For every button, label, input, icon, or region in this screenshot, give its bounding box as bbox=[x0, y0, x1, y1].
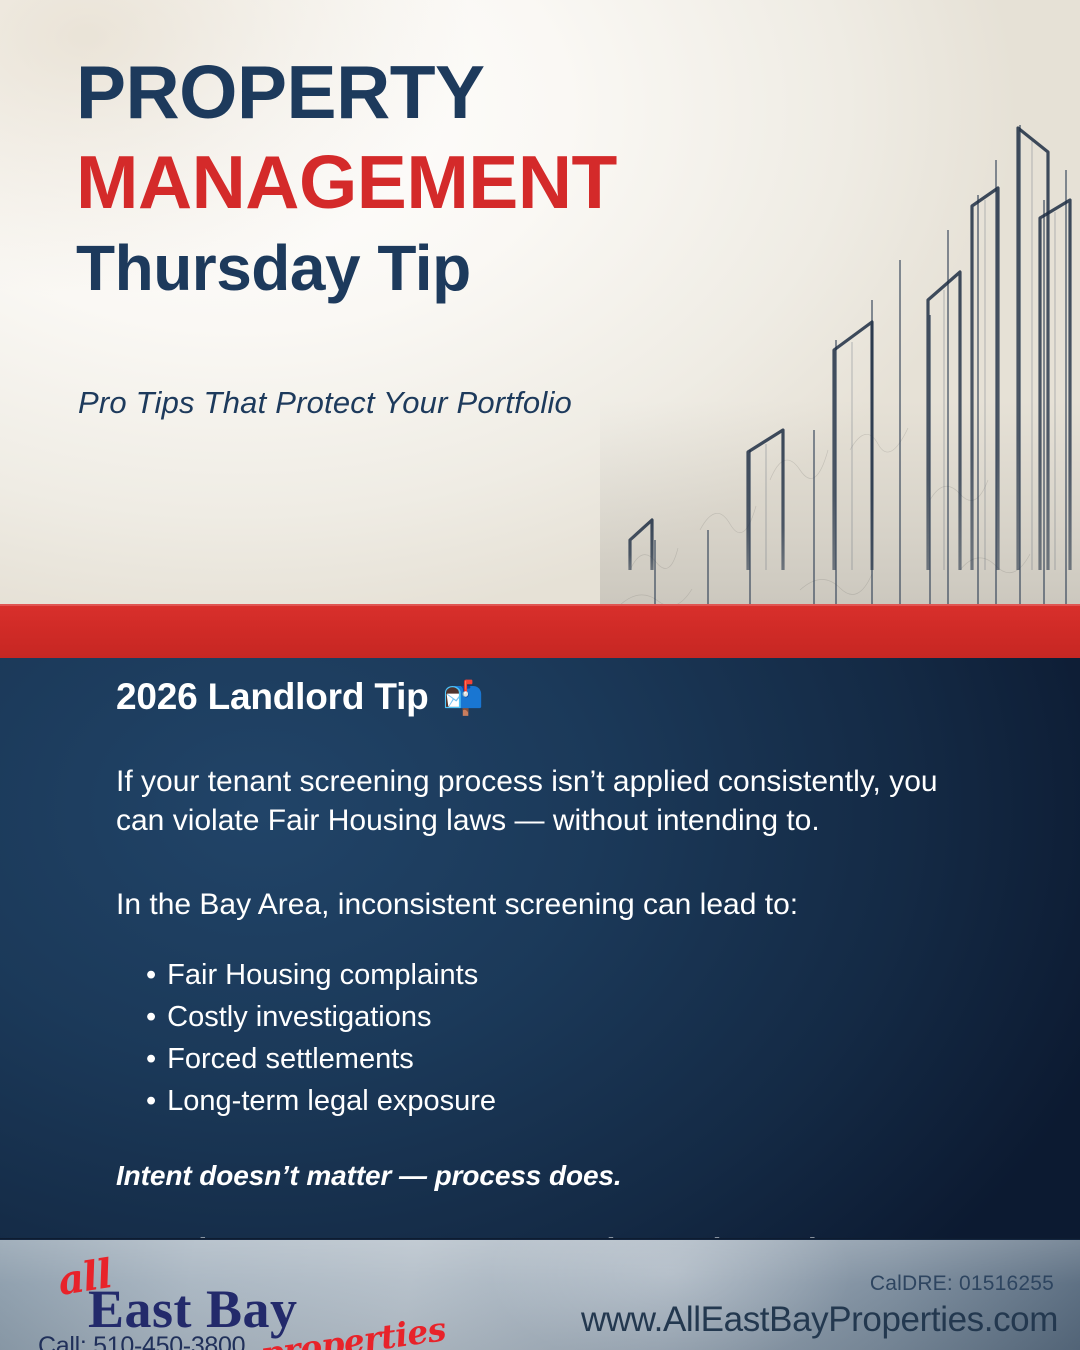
list-item: Forced settlements bbox=[146, 1042, 976, 1078]
title-line-thursday-tip: Thursday Tip bbox=[76, 237, 696, 300]
title-line-property: PROPERTY bbox=[76, 56, 696, 130]
red-divider-band bbox=[0, 604, 1080, 658]
phone-number[interactable]: Call: 510-450-3800 bbox=[38, 1332, 245, 1350]
list-item: Costly investigations bbox=[146, 1000, 976, 1036]
tip-content: 2026 Landlord Tip 📬 If your tenant scree… bbox=[116, 676, 976, 1269]
closing-line-1: Intent doesn’t matter — process does. bbox=[116, 1160, 976, 1192]
tip-heading: 2026 Landlord Tip 📬 bbox=[116, 676, 976, 718]
poster-subtitle: Pro Tips That Protect Your Portfolio bbox=[78, 385, 572, 421]
list-item: Long-term legal exposure bbox=[146, 1084, 976, 1120]
poster-canvas: PROPERTY MANAGEMENT Thursday Tip Pro Tip… bbox=[0, 0, 1080, 1350]
website-url[interactable]: www.AllEastBayProperties.com bbox=[581, 1300, 1058, 1340]
poster-title-block: PROPERTY MANAGEMENT Thursday Tip bbox=[76, 56, 696, 300]
tip-paragraph-1: If your tenant screening process isn’t a… bbox=[116, 762, 976, 841]
mailbox-icon: 📬 bbox=[443, 681, 484, 714]
company-logo[interactable]: all East Bay properties Call: 510-450-38… bbox=[30, 1250, 430, 1350]
list-item: Fair Housing complaints bbox=[146, 958, 976, 994]
title-line-management: MANAGEMENT bbox=[76, 146, 696, 220]
tip-paragraph-2: In the Bay Area, inconsistent screening … bbox=[116, 885, 976, 924]
logo-word-east-bay: East Bay bbox=[88, 1278, 298, 1340]
tip-heading-text: 2026 Landlord Tip bbox=[116, 676, 429, 718]
consequences-list: Fair Housing complaints Costly investiga… bbox=[116, 958, 976, 1120]
caldre-license: CalDRE: 01516255 bbox=[870, 1272, 1054, 1296]
red-band-highlight bbox=[0, 604, 1080, 606]
